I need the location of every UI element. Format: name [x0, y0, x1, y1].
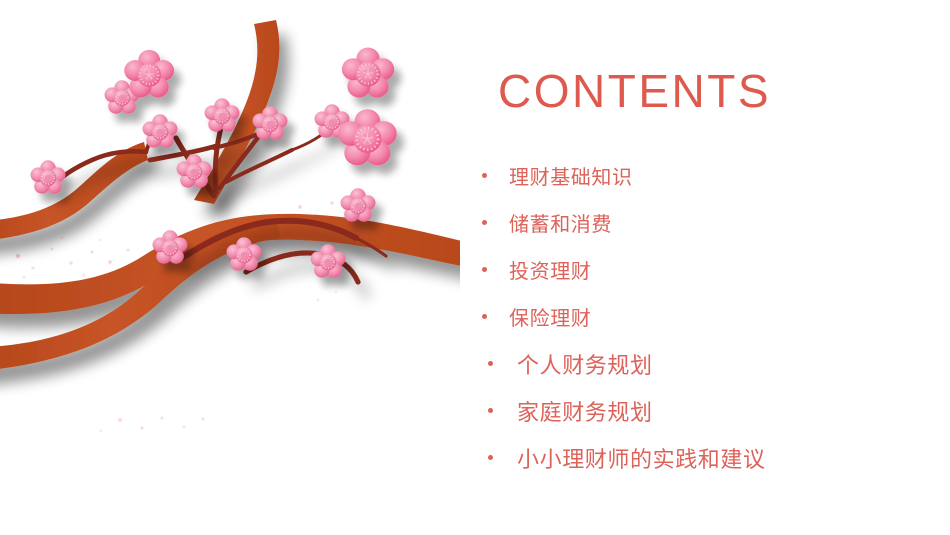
bullet-icon	[488, 455, 493, 460]
blossom-small	[31, 160, 66, 193]
plum-blossom-tree-illustration	[0, 0, 460, 535]
list-item[interactable]: 理财基础知识	[460, 152, 950, 199]
list-item[interactable]: 投资理财	[460, 246, 950, 293]
bullet-icon	[482, 220, 487, 225]
list-item[interactable]: 小小理财师的实践和建议	[460, 434, 950, 481]
list-item-label: 家庭财务规划	[517, 395, 653, 427]
blossom-small	[311, 244, 346, 277]
bullet-icon	[488, 408, 493, 413]
list-item[interactable]: 保险理财	[460, 293, 950, 340]
list-item-label: 保险理财	[509, 302, 591, 331]
list-item[interactable]: 家庭财务规划	[460, 387, 950, 434]
contents-panel: CONTENTS 理财基础知识 储蓄和消费 投资理财 保险理财 个人财务规划	[460, 0, 950, 535]
list-item-label: 理财基础知识	[509, 161, 633, 190]
list-item[interactable]: 储蓄和消费	[460, 199, 950, 246]
blossom-small	[177, 154, 212, 187]
bullet-icon	[482, 173, 487, 178]
list-item-label: 投资理财	[509, 255, 591, 284]
list-item[interactable]: 个人财务规划	[460, 340, 950, 387]
blossom-small	[205, 98, 240, 131]
bullet-icon	[488, 361, 493, 366]
list-item-label: 小小理财师的实践和建议	[517, 442, 766, 474]
blossom-floating	[342, 48, 394, 98]
blossom-small	[143, 114, 178, 147]
blossom-small	[341, 188, 376, 221]
table-of-contents-list: 理财基础知识 储蓄和消费 投资理财 保险理财 个人财务规划 家庭财务规划	[460, 152, 950, 481]
list-item-label: 个人财务规划	[517, 348, 653, 380]
slide-contents: CONTENTS 理财基础知识 储蓄和消费 投资理财 保险理财 个人财务规划	[0, 0, 950, 535]
page-title: CONTENTS	[498, 68, 771, 114]
list-item-label: 储蓄和消费	[509, 208, 612, 237]
blossom-large	[124, 50, 174, 98]
bullet-icon	[482, 267, 487, 272]
bullet-icon	[482, 314, 487, 319]
